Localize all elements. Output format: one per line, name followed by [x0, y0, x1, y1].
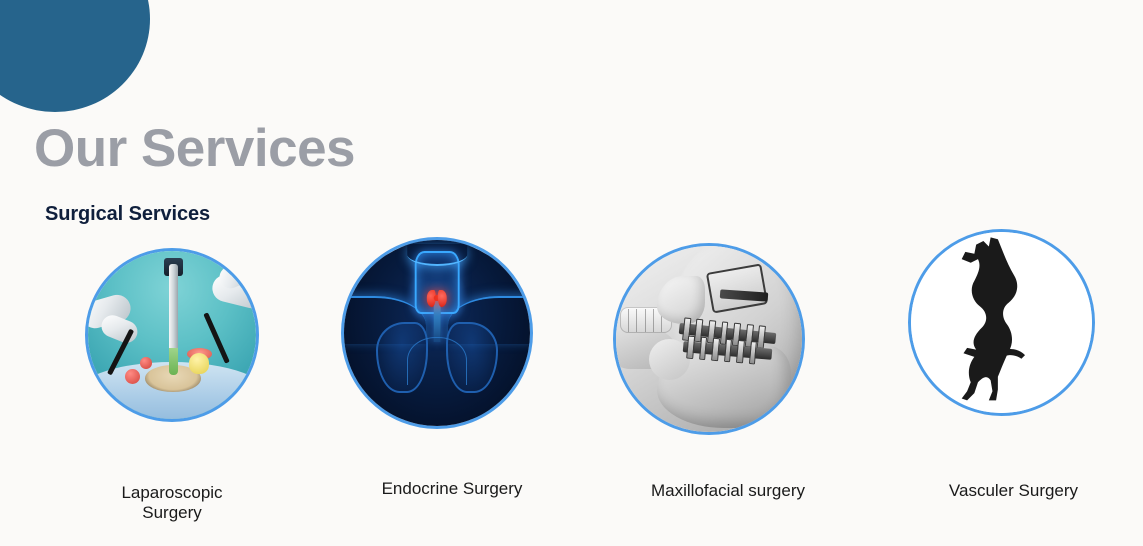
endocrine-anatomy-illustration — [344, 240, 530, 426]
aorta-silhouette-icon — [911, 232, 1092, 413]
maxillofacial-jaw-xray — [616, 246, 802, 432]
service-caption-vascular: Vasculer Surgery — [901, 481, 1126, 501]
page-title: Our Services — [34, 122, 355, 175]
service-image-circle-maxillofacial[interactable] — [613, 243, 805, 435]
laparoscopic-surgery-photo — [88, 251, 256, 419]
service-caption-laparoscopic: Laparoscopic Surgery — [72, 483, 272, 523]
vascular-aorta-silhouette — [911, 232, 1092, 413]
service-image-circle-laparoscopic[interactable] — [85, 248, 259, 422]
service-caption-endocrine: Endocrine Surgery — [352, 479, 552, 499]
service-caption-maxillofacial: Maxillofacial surgery — [609, 481, 847, 501]
thyroid-gland-highlight — [427, 290, 447, 307]
service-image-circle-endocrine[interactable] — [341, 237, 533, 429]
section-title: Surgical Services — [45, 203, 210, 226]
decorative-blue-blob — [0, 0, 150, 112]
service-image-circle-vascular[interactable] — [908, 229, 1095, 416]
